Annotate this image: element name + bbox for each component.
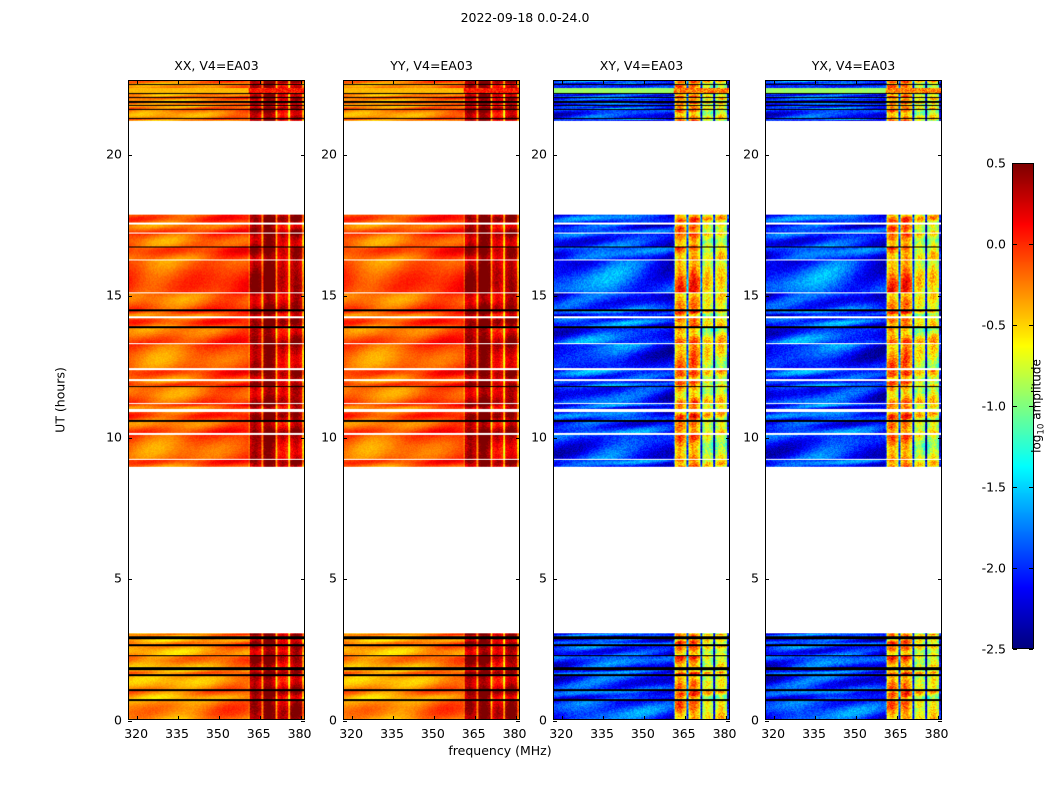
y-tick-right-5 xyxy=(938,579,942,580)
colorbar-title: log10 amplitude xyxy=(1029,359,1046,453)
x-tick-top-380 xyxy=(301,80,302,84)
y-tick-0 xyxy=(765,721,769,722)
colorbar-title-log: log xyxy=(1029,435,1043,453)
colorbar-tick-3 xyxy=(1013,406,1017,407)
x-tick-label-2-365: 365 xyxy=(672,726,696,741)
colorbar-title-rest: amplitude xyxy=(1029,359,1043,423)
panel-xy-axes[interactable] xyxy=(553,80,730,720)
y-tick-10 xyxy=(765,438,769,439)
colorbar-tick-label-4: -0.5 xyxy=(970,318,1006,333)
x-tick-365 xyxy=(685,716,686,720)
x-tick-350 xyxy=(434,716,435,720)
y-tick-label-3-5: 5 xyxy=(735,571,759,586)
panel-yx-title: YX, V4=EA03 xyxy=(765,58,942,73)
spectrogram-xy xyxy=(554,81,729,719)
panel-yy: YY, V4=EA03 xyxy=(343,80,520,720)
x-tick-label-1-320: 320 xyxy=(339,726,363,741)
y-tick-20 xyxy=(128,155,132,156)
x-tick-label-3-335: 335 xyxy=(802,726,826,741)
x-tick-label-1-380: 380 xyxy=(503,726,527,741)
x-tick-top-365 xyxy=(260,80,261,84)
colorbar-tick-right-5 xyxy=(1029,244,1033,245)
panel-yy-axes[interactable] xyxy=(343,80,520,720)
y-tick-10 xyxy=(343,438,347,439)
x-tick-365 xyxy=(260,716,261,720)
x-tick-label-2-335: 335 xyxy=(590,726,614,741)
x-tick-top-320 xyxy=(352,80,353,84)
x-tick-365 xyxy=(897,716,898,720)
panel-xy: XY, V4=EA03 xyxy=(553,80,730,720)
colorbar-tick-right-4 xyxy=(1029,325,1033,326)
y-tick-label-0-0: 0 xyxy=(98,713,122,728)
x-tick-label-2-350: 350 xyxy=(631,726,655,741)
colorbar-title-sub: 10 xyxy=(1037,424,1047,435)
y-tick-right-15 xyxy=(726,296,730,297)
y-axis-label: UT (hours) xyxy=(53,367,68,433)
y-tick-label-3-0: 0 xyxy=(735,713,759,728)
y-tick-label-1-10: 10 xyxy=(313,429,337,444)
colorbar-tick-label-3: -1.0 xyxy=(970,399,1006,414)
x-tick-label-0-335: 335 xyxy=(165,726,189,741)
y-tick-right-15 xyxy=(516,296,520,297)
colorbar-tick-right-6 xyxy=(1029,163,1033,164)
x-tick-top-380 xyxy=(726,80,727,84)
y-tick-15 xyxy=(553,296,557,297)
colorbar-tick-0 xyxy=(1013,649,1017,650)
y-tick-right-5 xyxy=(516,579,520,580)
y-tick-label-3-15: 15 xyxy=(735,288,759,303)
y-tick-label-1-5: 5 xyxy=(313,571,337,586)
x-tick-335 xyxy=(178,716,179,720)
x-tick-top-350 xyxy=(644,80,645,84)
spectrogram-xx xyxy=(129,81,304,719)
x-tick-label-0-380: 380 xyxy=(288,726,312,741)
colorbar-tick-label-6: 0.5 xyxy=(970,156,1006,171)
y-tick-right-0 xyxy=(938,721,942,722)
y-tick-right-5 xyxy=(301,579,305,580)
x-tick-top-365 xyxy=(897,80,898,84)
x-tick-top-380 xyxy=(516,80,517,84)
y-tick-label-0-20: 20 xyxy=(98,146,122,161)
x-tick-350 xyxy=(644,716,645,720)
y-tick-right-10 xyxy=(516,438,520,439)
y-tick-right-15 xyxy=(301,296,305,297)
x-tick-label-2-320: 320 xyxy=(549,726,573,741)
x-tick-top-365 xyxy=(475,80,476,84)
y-tick-label-3-20: 20 xyxy=(735,146,759,161)
x-tick-350 xyxy=(856,716,857,720)
panel-yx: YX, V4=EA03 xyxy=(765,80,942,720)
y-tick-20 xyxy=(553,155,557,156)
y-tick-label-0-5: 5 xyxy=(98,571,122,586)
x-tick-label-2-380: 380 xyxy=(713,726,737,741)
x-tick-label-3-380: 380 xyxy=(925,726,949,741)
x-tick-label-0-350: 350 xyxy=(206,726,230,741)
figure-canvas: 2022-09-18 0.0-24.0 XX, V4=EA03 YY, V4=E… xyxy=(0,0,1050,800)
x-tick-335 xyxy=(815,716,816,720)
x-tick-label-1-350: 350 xyxy=(421,726,445,741)
y-tick-right-0 xyxy=(726,721,730,722)
x-tick-top-350 xyxy=(856,80,857,84)
y-tick-20 xyxy=(765,155,769,156)
y-tick-right-10 xyxy=(726,438,730,439)
x-tick-335 xyxy=(603,716,604,720)
y-tick-label-0-15: 15 xyxy=(98,288,122,303)
x-tick-365 xyxy=(475,716,476,720)
x-tick-top-335 xyxy=(178,80,179,84)
y-tick-label-3-10: 10 xyxy=(735,429,759,444)
colorbar-tick-right-0 xyxy=(1029,649,1033,650)
x-tick-top-380 xyxy=(938,80,939,84)
spectrogram-yx xyxy=(766,81,941,719)
y-tick-right-15 xyxy=(938,296,942,297)
x-tick-label-3-350: 350 xyxy=(843,726,867,741)
x-tick-top-365 xyxy=(685,80,686,84)
colorbar-tick-right-2 xyxy=(1029,487,1033,488)
colorbar-tick-label-5: 0.0 xyxy=(970,237,1006,252)
x-tick-top-320 xyxy=(562,80,563,84)
y-tick-right-10 xyxy=(301,438,305,439)
colorbar-tick-label-0: -2.5 xyxy=(970,642,1006,657)
colorbar-tick-4 xyxy=(1013,325,1017,326)
panel-xy-title: XY, V4=EA03 xyxy=(553,58,730,73)
y-tick-right-0 xyxy=(301,721,305,722)
colorbar-tick-2 xyxy=(1013,487,1017,488)
x-tick-top-335 xyxy=(815,80,816,84)
colorbar-tick-6 xyxy=(1013,163,1017,164)
x-tick-380 xyxy=(938,716,939,720)
panel-yy-title: YY, V4=EA03 xyxy=(343,58,520,73)
y-tick-right-10 xyxy=(938,438,942,439)
colorbar-tick-right-1 xyxy=(1029,568,1033,569)
y-tick-5 xyxy=(128,579,132,580)
y-tick-right-0 xyxy=(516,721,520,722)
x-tick-320 xyxy=(562,716,563,720)
y-tick-15 xyxy=(343,296,347,297)
y-tick-right-20 xyxy=(516,155,520,156)
y-tick-label-1-15: 15 xyxy=(313,288,337,303)
x-tick-label-3-320: 320 xyxy=(761,726,785,741)
colorbar-tick-5 xyxy=(1013,244,1017,245)
x-tick-380 xyxy=(726,716,727,720)
y-tick-20 xyxy=(343,155,347,156)
colorbar-tick-label-1: -2.0 xyxy=(970,561,1006,576)
y-tick-right-20 xyxy=(726,155,730,156)
y-tick-label-1-0: 0 xyxy=(313,713,337,728)
y-tick-0 xyxy=(343,721,347,722)
y-tick-5 xyxy=(553,579,557,580)
figure-suptitle: 2022-09-18 0.0-24.0 xyxy=(0,10,1050,25)
x-tick-380 xyxy=(516,716,517,720)
y-tick-label-0-10: 10 xyxy=(98,429,122,444)
x-tick-label-3-365: 365 xyxy=(884,726,908,741)
x-tick-320 xyxy=(137,716,138,720)
y-tick-10 xyxy=(553,438,557,439)
x-tick-top-335 xyxy=(603,80,604,84)
y-tick-label-1-20: 20 xyxy=(313,146,337,161)
colorbar-tick-label-2: -1.5 xyxy=(970,480,1006,495)
y-tick-right-20 xyxy=(301,155,305,156)
x-tick-label-0-365: 365 xyxy=(247,726,271,741)
x-tick-top-335 xyxy=(393,80,394,84)
x-tick-label-0-320: 320 xyxy=(124,726,148,741)
y-tick-label-2-20: 20 xyxy=(523,146,547,161)
x-tick-350 xyxy=(219,716,220,720)
x-tick-335 xyxy=(393,716,394,720)
x-tick-380 xyxy=(301,716,302,720)
x-tick-top-350 xyxy=(219,80,220,84)
x-tick-top-320 xyxy=(774,80,775,84)
y-tick-label-2-15: 15 xyxy=(523,288,547,303)
y-tick-15 xyxy=(765,296,769,297)
x-tick-top-350 xyxy=(434,80,435,84)
x-tick-top-320 xyxy=(137,80,138,84)
panel-yx-axes[interactable] xyxy=(765,80,942,720)
x-tick-320 xyxy=(774,716,775,720)
spectrogram-yy xyxy=(344,81,519,719)
x-tick-320 xyxy=(352,716,353,720)
y-tick-label-2-10: 10 xyxy=(523,429,547,444)
x-tick-label-1-335: 335 xyxy=(380,726,404,741)
y-tick-10 xyxy=(128,438,132,439)
y-tick-right-20 xyxy=(938,155,942,156)
y-tick-label-2-5: 5 xyxy=(523,571,547,586)
y-tick-5 xyxy=(765,579,769,580)
y-tick-15 xyxy=(128,296,132,297)
y-tick-0 xyxy=(128,721,132,722)
y-tick-0 xyxy=(553,721,557,722)
panel-xx-axes[interactable] xyxy=(128,80,305,720)
panel-xx: XX, V4=EA03 xyxy=(128,80,305,720)
x-axis-label: frequency (MHz) xyxy=(400,743,600,758)
y-tick-right-5 xyxy=(726,579,730,580)
panel-xx-title: XX, V4=EA03 xyxy=(128,58,305,73)
y-tick-5 xyxy=(343,579,347,580)
y-tick-label-2-0: 0 xyxy=(523,713,547,728)
colorbar-tick-1 xyxy=(1013,568,1017,569)
x-tick-label-1-365: 365 xyxy=(462,726,486,741)
